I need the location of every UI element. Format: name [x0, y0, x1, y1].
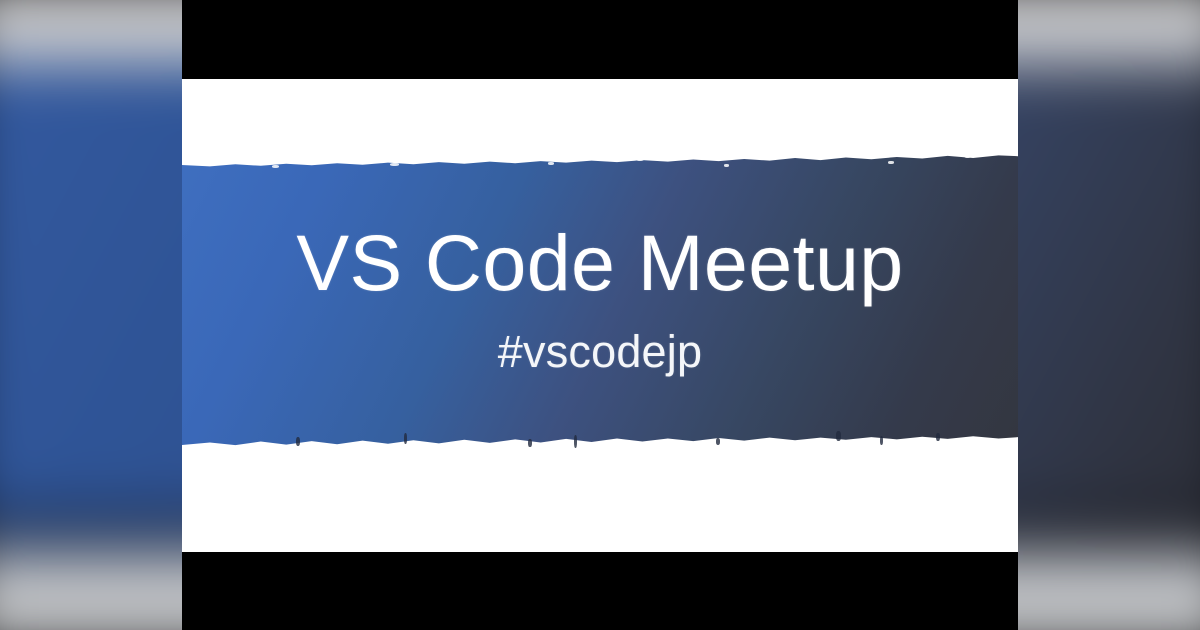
slide-thumbnail-frame: VS Code Meetup #vscodejp — [0, 0, 1200, 630]
slide-title: VS Code Meetup — [296, 222, 903, 304]
slide-panel: VS Code Meetup #vscodejp — [182, 79, 1018, 552]
slide-subtitle-hashtag: #vscodejp — [498, 328, 702, 375]
letterbox-bar-bottom — [182, 552, 1018, 630]
letterbox-bar-top — [182, 0, 1018, 79]
slide-text-block: VS Code Meetup #vscodejp — [182, 79, 1018, 552]
